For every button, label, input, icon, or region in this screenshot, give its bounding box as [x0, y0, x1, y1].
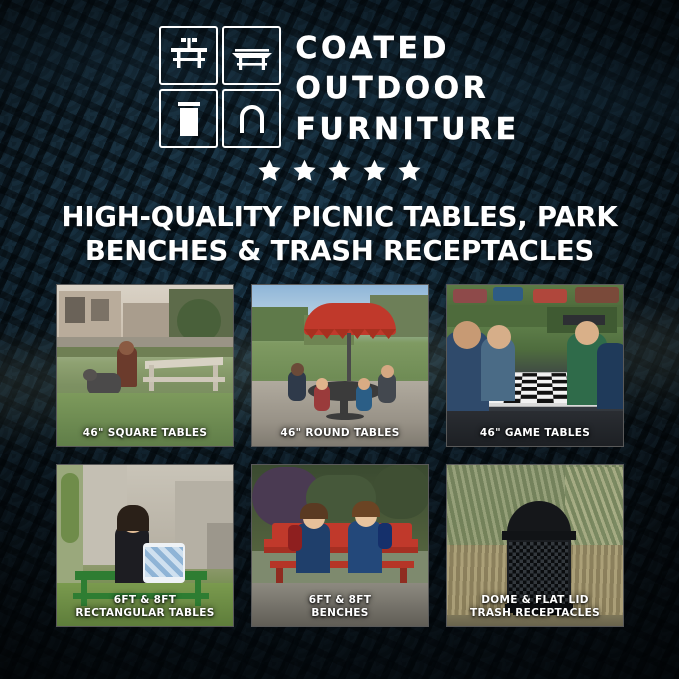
- bench-icon: [222, 26, 281, 85]
- brand-logo: COATED OUTDOOR FURNITURE: [0, 26, 679, 149]
- tile-caption-line-2: RECTANGULAR TABLES: [75, 607, 214, 619]
- tile-square-tables[interactable]: 46" SQUARE TABLES: [56, 284, 234, 447]
- poster-content: COATED OUTDOOR FURNITURE HIGH-QUALITY PI…: [0, 0, 679, 679]
- picnic-table-icon: [159, 26, 218, 85]
- tile-caption-line-1: 6FT & 8FT: [114, 594, 176, 606]
- brand-wordmark: COATED OUTDOOR FURNITURE: [295, 26, 519, 149]
- tile-caption: 46" GAME TABLES: [447, 427, 623, 439]
- tile-caption-line-2: BENCHES: [311, 607, 368, 619]
- tile-game-tables[interactable]: 46" GAME TABLES: [446, 284, 624, 447]
- headline-line-2: BENCHES & TRASH RECEPTACLES: [26, 234, 653, 268]
- photo-game-tables: [447, 285, 623, 446]
- tile-caption-line-1: DOME & FLAT LID: [481, 594, 589, 606]
- tile-trash-receptacles[interactable]: DOME & FLAT LID TRASH RECEPTACLES: [446, 464, 624, 627]
- arch-bench-icon: [222, 89, 281, 148]
- star-icon: [361, 158, 388, 184]
- trash-receptacle-icon: [159, 89, 218, 148]
- tile-rectangular-tables[interactable]: 6FT & 8FT RECTANGULAR TABLES: [56, 464, 234, 627]
- tile-benches[interactable]: 6FT & 8FT BENCHES: [251, 464, 429, 627]
- brand-word-1: COATED: [295, 30, 519, 68]
- star-icon: [396, 158, 423, 184]
- star-icon: [256, 158, 283, 184]
- tile-caption: 6FT & 8FT RECTANGULAR TABLES: [57, 594, 233, 619]
- star-icon: [326, 158, 353, 184]
- headline-line-1: HIGH-QUALITY PICNIC TABLES, PARK: [62, 201, 618, 233]
- brand-word-2: OUTDOOR: [295, 70, 519, 108]
- tile-caption-line-1: 6FT & 8FT: [309, 594, 371, 606]
- tile-caption: 46" ROUND TABLES: [252, 427, 428, 439]
- page-title: HIGH-QUALITY PICNIC TABLES, PARK BENCHES…: [0, 200, 679, 269]
- tile-caption: 46" SQUARE TABLES: [57, 427, 233, 439]
- star-rating: [0, 158, 679, 190]
- product-poster: COATED OUTDOOR FURNITURE HIGH-QUALITY PI…: [0, 0, 679, 679]
- tile-caption: DOME & FLAT LID TRASH RECEPTACLES: [447, 594, 623, 619]
- product-category-grid: 46" SQUARE TABLES: [56, 284, 624, 627]
- photo-round-tables: [252, 285, 428, 446]
- tile-caption-line-2: TRASH RECEPTACLES: [470, 607, 600, 619]
- logo-icon-grid: [159, 26, 281, 148]
- star-icon: [291, 158, 318, 184]
- tile-caption: 6FT & 8FT BENCHES: [252, 594, 428, 619]
- brand-word-3: FURNITURE: [295, 111, 519, 149]
- tile-round-tables[interactable]: 46" ROUND TABLES: [251, 284, 429, 447]
- photo-square-tables: [57, 285, 233, 446]
